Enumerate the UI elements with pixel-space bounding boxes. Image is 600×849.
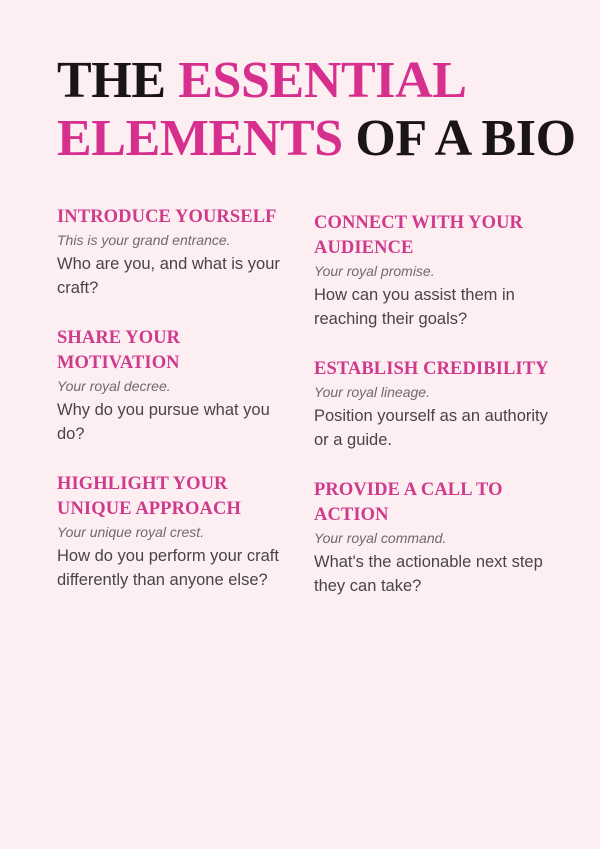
item-subtitle: Your unique royal crest. <box>57 523 292 542</box>
item-subtitle: Your royal decree. <box>57 377 292 396</box>
title-word-essential: ESSENTIAL <box>178 52 466 109</box>
title-line-2: ELEMENTS OF A BIO <box>57 110 547 168</box>
poster-title: THE ESSENTIAL ELEMENTS OF A BIO <box>57 52 547 168</box>
item-body: What's the actionable next step they can… <box>314 550 559 598</box>
content-columns: INTRODUCE YOURSELF This is your grand en… <box>0 205 600 625</box>
list-item: ESTABLISH CREDIBILITY Your royal lineage… <box>314 357 559 452</box>
item-heading: INTRODUCE YOURSELF <box>57 205 292 230</box>
item-body: How can you assist them in reaching thei… <box>314 283 559 331</box>
item-heading: CONNECT WITH YOUR AUDIENCE <box>314 211 559 261</box>
column-right: CONNECT WITH YOUR AUDIENCE Your royal pr… <box>314 205 559 598</box>
poster-page: THE ESSENTIAL ELEMENTS OF A BIO INTRODUC… <box>0 0 600 849</box>
column-left: INTRODUCE YOURSELF This is your grand en… <box>57 205 292 592</box>
item-body: Who are you, and what is your craft? <box>57 252 292 300</box>
item-body: Position yourself as an authority or a g… <box>314 404 559 452</box>
title-line-1: THE ESSENTIAL <box>57 52 547 110</box>
title-word-the: THE <box>57 52 178 109</box>
item-heading: HIGHLIGHT YOUR UNIQUE APPROACH <box>57 472 292 522</box>
list-item: HIGHLIGHT YOUR UNIQUE APPROACH Your uniq… <box>57 472 292 592</box>
item-body: How do you perform your craft differentl… <box>57 544 292 592</box>
item-subtitle: Your royal lineage. <box>314 383 559 402</box>
item-heading: PROVIDE A CALL TO ACTION <box>314 478 559 528</box>
item-heading: SHARE YOUR MOTIVATION <box>57 326 292 376</box>
list-item: SHARE YOUR MOTIVATION Your royal decree.… <box>57 326 292 446</box>
item-body: Why do you pursue what you do? <box>57 398 292 446</box>
list-item: PROVIDE A CALL TO ACTION Your royal comm… <box>314 478 559 598</box>
item-subtitle: Your royal command. <box>314 529 559 548</box>
list-item: INTRODUCE YOURSELF This is your grand en… <box>57 205 292 300</box>
item-heading: ESTABLISH CREDIBILITY <box>314 357 559 382</box>
list-item: CONNECT WITH YOUR AUDIENCE Your royal pr… <box>314 211 559 331</box>
title-word-of-a-bio: OF A BIO <box>343 110 576 167</box>
item-subtitle: This is your grand entrance. <box>57 231 292 250</box>
item-subtitle: Your royal promise. <box>314 262 559 281</box>
title-word-elements: ELEMENTS <box>57 110 343 167</box>
